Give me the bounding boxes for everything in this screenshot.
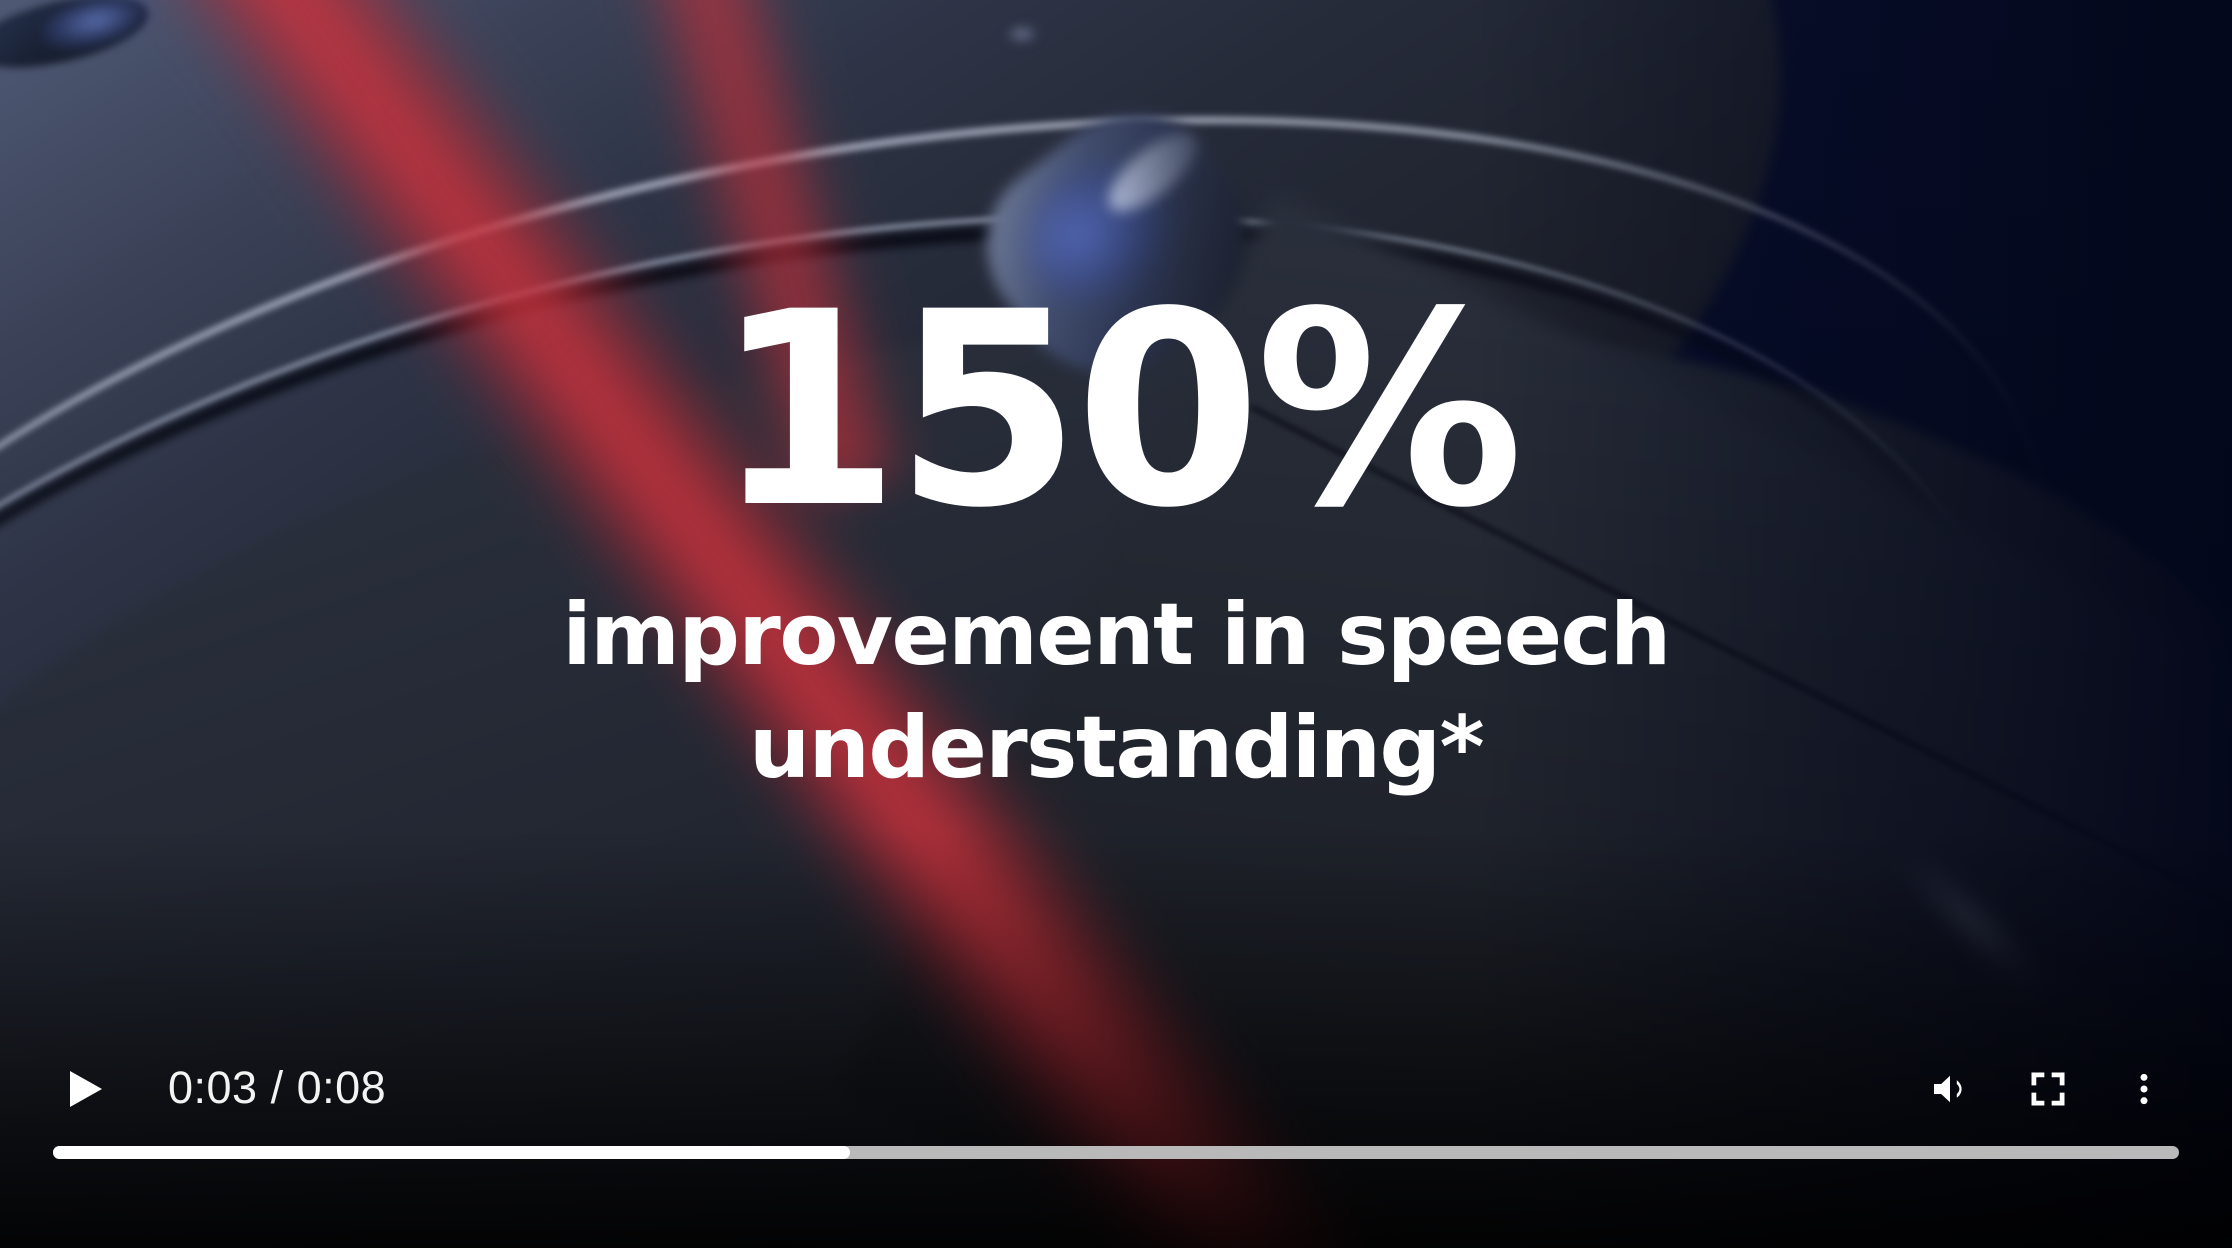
play-icon <box>70 1071 102 1107</box>
volume-icon <box>1928 1065 1976 1113</box>
fullscreen-icon <box>2026 1067 2070 1111</box>
more-options-icon <box>2124 1067 2164 1111</box>
lens-speck <box>1005 24 1039 44</box>
control-button-row: 0:03 / 0:08 <box>0 1022 2232 1142</box>
video-player[interactable]: 150% improvement in speech understanding… <box>0 0 2232 1248</box>
progress-bar-played <box>53 1146 850 1159</box>
fullscreen-button[interactable] <box>2000 1052 2096 1126</box>
volume-button[interactable] <box>1904 1052 2000 1126</box>
player-controls[interactable]: 0:03 / 0:08 <box>0 1000 2232 1248</box>
more-options-button[interactable] <box>2096 1052 2192 1126</box>
progress-bar-track[interactable] <box>53 1146 2179 1159</box>
right-control-group <box>1904 1052 2192 1126</box>
play-button[interactable] <box>48 1054 124 1124</box>
time-display: 0:03 / 0:08 <box>168 1058 386 1118</box>
